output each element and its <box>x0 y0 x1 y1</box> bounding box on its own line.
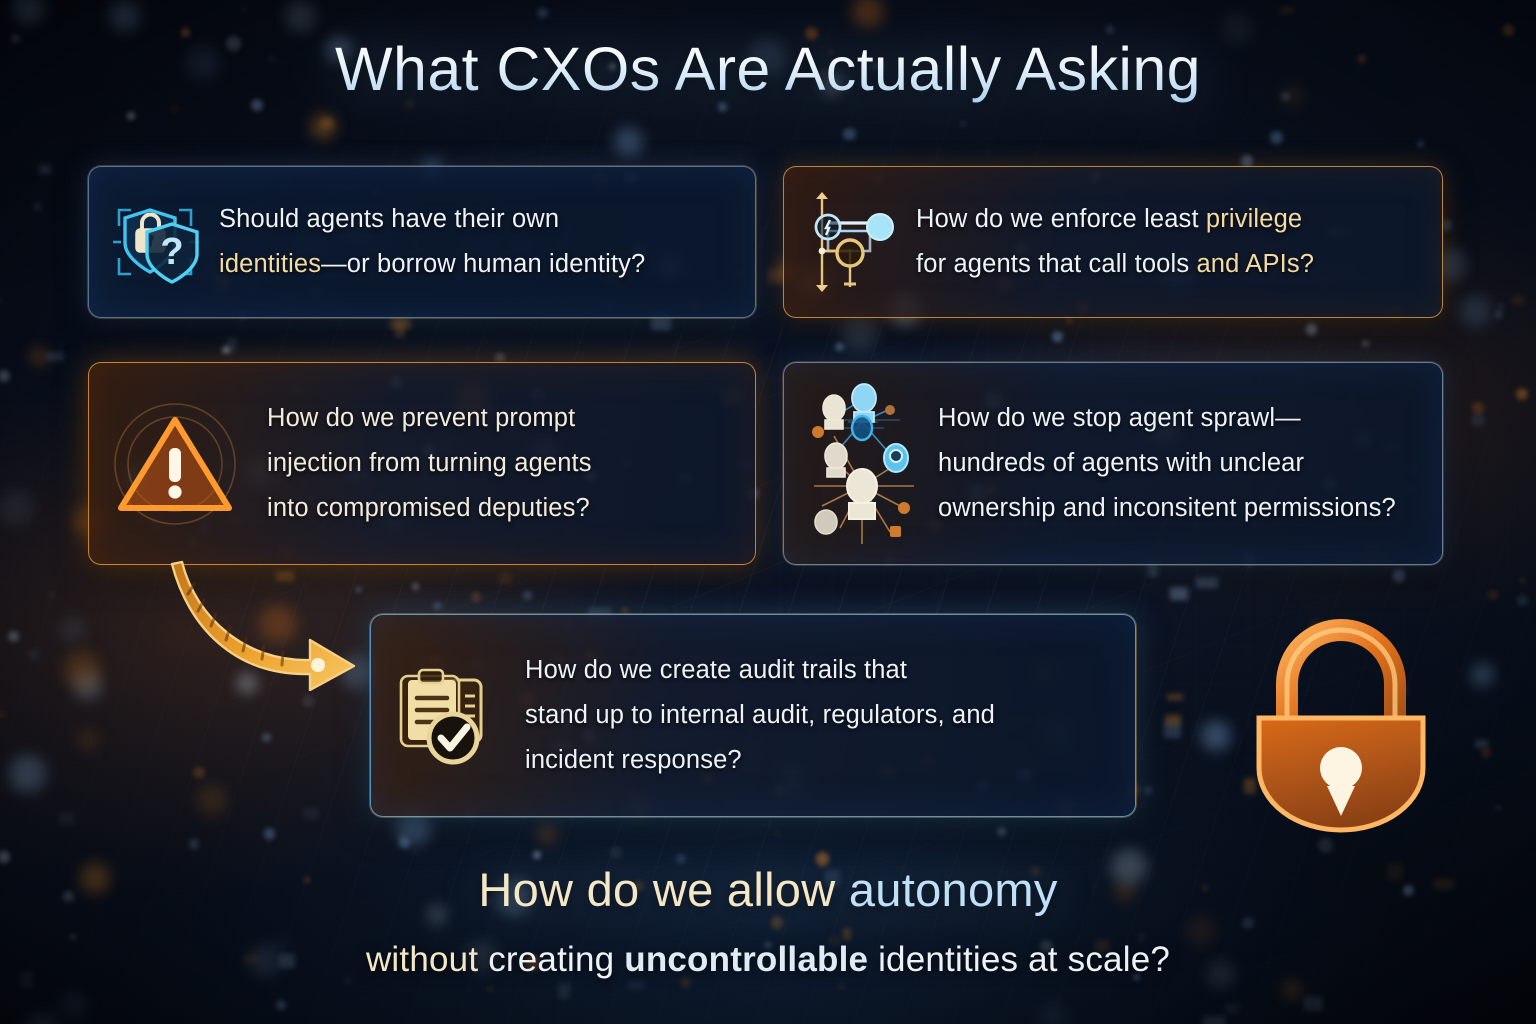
injection-line2: injection from turning agents <box>267 441 592 486</box>
svg-text:?: ? <box>160 231 183 273</box>
tagline-2b: creating <box>488 940 624 979</box>
privilege-line1: How do we enforce least <box>916 205 1206 233</box>
clipboard-check-icon <box>391 664 503 768</box>
sprawl-line3: ownership and inconsitent permissions? <box>938 486 1396 531</box>
card-identity-text: Should agents have their own identities—… <box>219 197 645 287</box>
question-card-injection[interactable]: How do we prevent prompt injection from … <box>88 362 756 565</box>
audit-line3: incident response? <box>525 738 995 783</box>
injection-line3: into compromised deputies? <box>267 486 592 531</box>
agent-network-icon <box>804 376 924 552</box>
tagline-2a: without <box>366 940 488 979</box>
identity-line2: —or borrow human identity? <box>321 250 645 278</box>
tagline-2d: identities at scale? <box>868 940 1170 979</box>
identity-line1: Should agents have their own <box>219 205 559 233</box>
question-card-identity[interactable]: ? Should agents have their own identitie… <box>88 166 756 318</box>
identity-highlight: identities <box>219 250 321 278</box>
privilege-highlight-1: privilege <box>1206 205 1302 233</box>
privilege-highlight-2: and APIs? <box>1196 250 1314 278</box>
tagline-line-1: How do we allow autonomy <box>0 862 1536 1024</box>
privilege-line2: for agents that call tools <box>916 250 1196 278</box>
shield-lock-question-icon: ? <box>109 196 201 288</box>
curved-arrow-icon <box>168 556 398 691</box>
sprawl-line2: hundreds of agents with unclear <box>938 441 1396 486</box>
tagline-line-2: without creating uncontrollable identiti… <box>0 940 1536 1024</box>
page-title: What CXOs Are Actually Asking <box>0 34 1536 104</box>
injection-line1: How do we prevent prompt <box>267 396 592 441</box>
audit-line1: How do we create audit trails that <box>525 648 995 693</box>
card-injection-text: How do we prevent prompt injection from … <box>267 396 592 531</box>
card-audit-text: How do we create audit trails that stand… <box>525 648 995 783</box>
padlock-icon <box>1243 618 1439 840</box>
permission-graph-icon <box>804 187 898 297</box>
card-sprawl-text: How do we stop agent sprawl— hundreds of… <box>938 396 1396 531</box>
sprawl-line1: How do we stop agent sprawl— <box>938 396 1396 441</box>
tagline-2c: uncontrollable <box>624 940 868 979</box>
tagline-1a: How do we allow <box>478 863 849 916</box>
question-card-audit[interactable]: How do we create audit trails that stand… <box>370 614 1136 817</box>
question-card-privilege[interactable]: How do we enforce least privilege for ag… <box>783 166 1443 318</box>
infographic-canvas: What CXOs Are Actually Asking ? Should a… <box>0 0 1536 1024</box>
audit-line2: stand up to internal audit, regulators, … <box>525 693 995 738</box>
tagline-1b: autonomy <box>849 863 1058 916</box>
question-card-sprawl[interactable]: How do we stop agent sprawl— hundreds of… <box>783 362 1443 565</box>
warning-triangle-icon <box>109 398 241 530</box>
card-privilege-text: How do we enforce least privilege for ag… <box>916 197 1314 287</box>
